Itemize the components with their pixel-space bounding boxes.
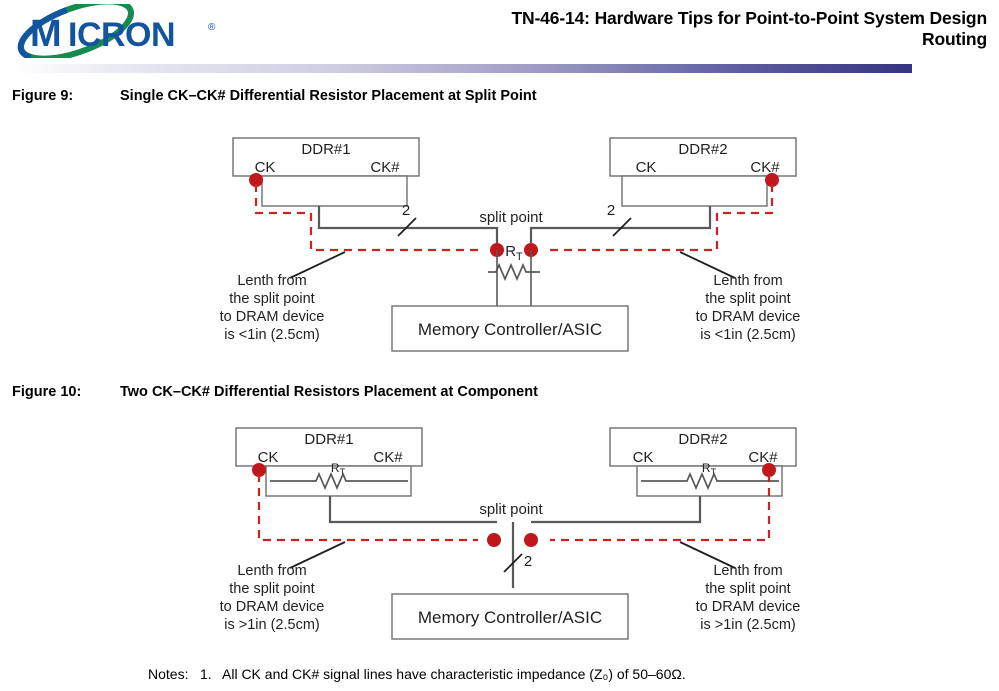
svg-text:Lenth from: Lenth from (237, 563, 306, 579)
figure-10-number: Figure 10: (12, 384, 120, 400)
split-node-dot-right (524, 533, 538, 547)
ddr2-label: DDR#2 (678, 431, 727, 448)
ddr1-pin-ckn-label: CK# (373, 449, 403, 466)
figure-10-caption: Figure 10:Two CK–CK# Differential Resist… (12, 384, 538, 400)
page-header: M ICRON ® TN-46-14: Hardware Tips for Po… (0, 0, 999, 72)
ddr1-label: DDR#1 (301, 141, 350, 158)
document-title: TN-46-14: Hardware Tips for Point-to-Poi… (287, 8, 987, 50)
notes-text: All CK and CK# signal lines have charact… (222, 666, 686, 682)
ddr1-solid-trace (330, 496, 497, 522)
svg-text:is >1in (2.5cm): is >1in (2.5cm) (224, 617, 320, 633)
ddr1-pad-box (262, 176, 407, 206)
figure-9-number: Figure 9: (12, 88, 120, 104)
ddr2-label: DDR#2 (678, 141, 727, 158)
resistor-zigzag-icon (488, 265, 540, 279)
memory-controller-label: Memory Controller/ASIC (418, 320, 602, 339)
figure-9-note-left: Lenth from the split point to DRAM devic… (220, 273, 325, 343)
svg-text:is >1in (2.5cm): is >1in (2.5cm) (700, 617, 796, 633)
ddr2-pin-ckn-label: CK# (750, 159, 780, 176)
figure-9-diagram: DDR#1 CK CK# 2 DDR#2 CK CK# 2 split poin… (0, 120, 999, 360)
svg-text:to DRAM device: to DRAM device (220, 599, 325, 615)
memory-controller-label: Memory Controller/ASIC (418, 608, 602, 627)
figure-10-note-right: Lenth from the split point to DRAM devic… (696, 563, 801, 633)
header-gradient-rule (12, 64, 912, 73)
svg-text:the split point: the split point (229, 581, 314, 597)
page-notes: Notes:1.All CK and CK# signal lines have… (148, 666, 686, 682)
bus-width-center-label: 2 (524, 553, 532, 570)
split-node-dot-left (487, 533, 501, 547)
ddr1-pin-ckn-label: CK# (370, 159, 400, 176)
controller-feed-lines (497, 272, 531, 306)
document-title-line2: Routing (287, 29, 987, 50)
ddr2-solid-trace (531, 496, 700, 522)
ddr2-pin-ck-label: CK (636, 159, 657, 176)
bus-width-right-label: 2 (607, 202, 615, 219)
svg-text:Lenth from: Lenth from (713, 563, 782, 579)
svg-text:to DRAM device: to DRAM device (696, 309, 801, 325)
svg-text:is <1in (2.5cm): is <1in (2.5cm) (224, 327, 320, 343)
figure-10-note-left: Lenth from the split point to DRAM devic… (220, 563, 325, 633)
figure-9-title: Single CK–CK# Differential Resistor Plac… (120, 88, 537, 104)
figure-10-title: Two CK–CK# Differential Resistors Placem… (120, 384, 538, 400)
svg-text:Lenth from: Lenth from (237, 273, 306, 289)
svg-text:to DRAM device: to DRAM device (220, 309, 325, 325)
svg-text:to DRAM device: to DRAM device (696, 599, 801, 615)
svg-text:M: M (30, 13, 61, 55)
svg-text:Lenth from: Lenth from (713, 273, 782, 289)
micron-logo: M ICRON ® (12, 4, 227, 58)
svg-text:the split point: the split point (229, 291, 314, 307)
termination-resistor-label: RT (505, 243, 523, 263)
split-point-label: split point (479, 501, 543, 518)
micron-logo-mark: M ICRON ® (12, 4, 227, 58)
document-title-line1: TN-46-14: Hardware Tips for Point-to-Poi… (287, 8, 987, 29)
split-point-label: split point (479, 209, 543, 226)
figure-9-note-right: Lenth from the split point to DRAM devic… (696, 273, 801, 343)
svg-text:®: ® (208, 22, 216, 33)
svg-text:is <1in (2.5cm): is <1in (2.5cm) (700, 327, 796, 343)
svg-text:ICRON: ICRON (68, 16, 175, 54)
ddr1-label: DDR#1 (304, 431, 353, 448)
bus-width-left-label: 2 (402, 202, 410, 219)
svg-text:the split point: the split point (705, 291, 790, 307)
ddr2-pad-box (622, 176, 767, 206)
notes-index: 1. (200, 666, 222, 682)
ddr2-pin-ckn-label: CK# (748, 449, 778, 466)
figure-9-caption: Figure 9:Single CK–CK# Differential Resi… (12, 88, 537, 104)
notes-label: Notes: (148, 666, 200, 682)
figure-10-diagram: DDR#1 CK CK# RT DDR#2 CK CK# RT split po… (0, 418, 999, 650)
svg-text:the split point: the split point (705, 581, 790, 597)
ddr2-pin-ck-label: CK (633, 449, 654, 466)
